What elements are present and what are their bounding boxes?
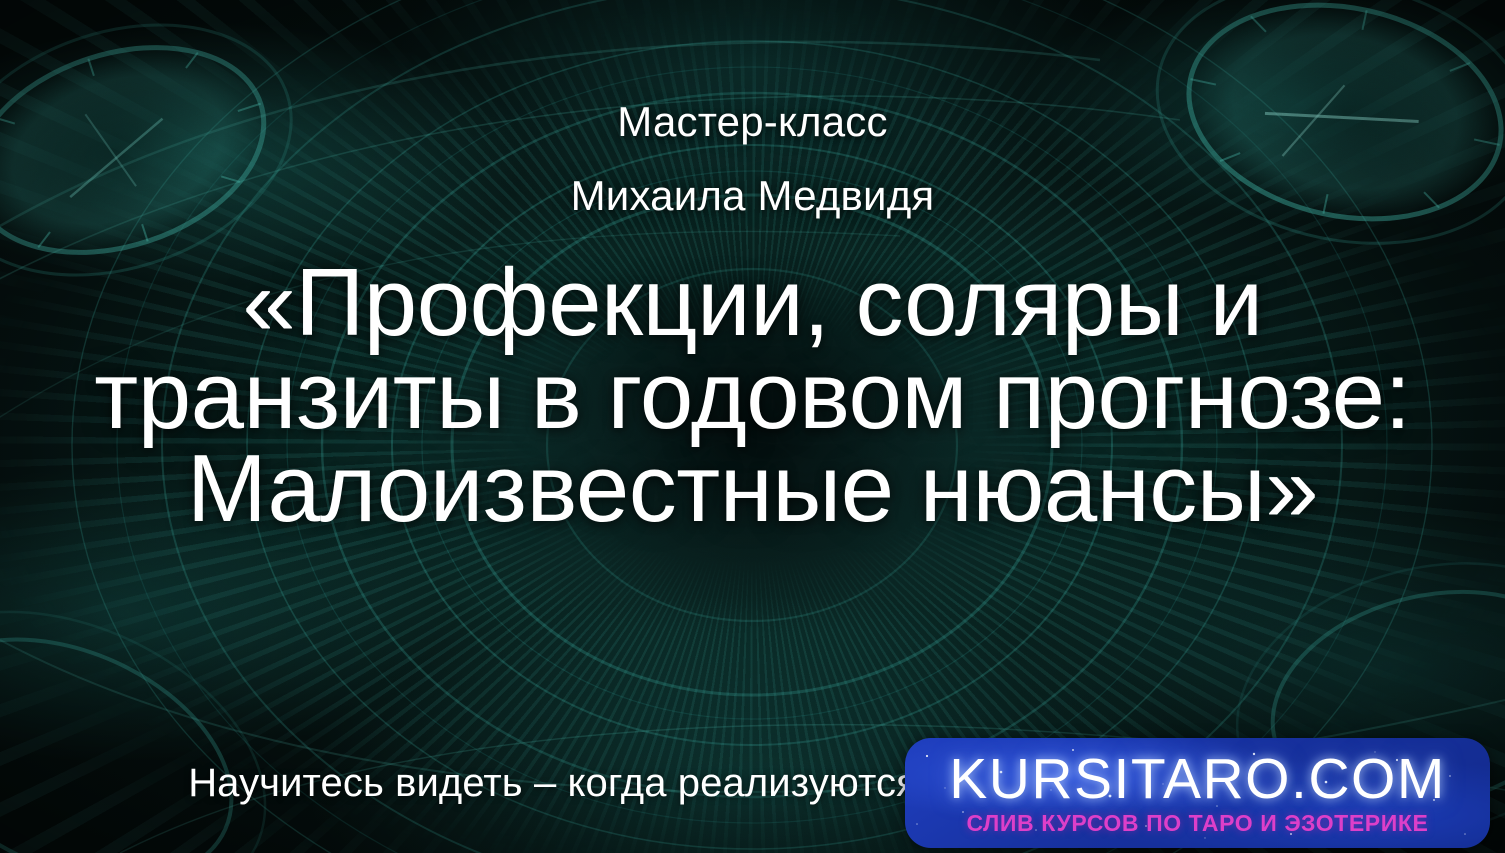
watermark-badge: KURSITARO.COM СЛИВ КУРСОВ ПО ТАРО И ЭЗОТ… [905,738,1490,848]
page-title: «Профекции, соляры и транзиты в годовом … [93,256,1413,535]
eyebrow-line-1: Мастер-класс [617,101,887,143]
watermark-title: KURSITARO.COM [949,750,1446,808]
watermark-subtitle: СЛИВ КУРСОВ ПО ТАРО И ЭЗОТЕРИКЕ [967,811,1429,835]
slide-content: Мастер-класс Михаила Медвидя «Профекции,… [0,0,1505,853]
eyebrow-line-2: Михаила Медвидя [571,175,935,217]
slide-canvas: Мастер-класс Михаила Медвидя «Профекции,… [0,0,1505,853]
